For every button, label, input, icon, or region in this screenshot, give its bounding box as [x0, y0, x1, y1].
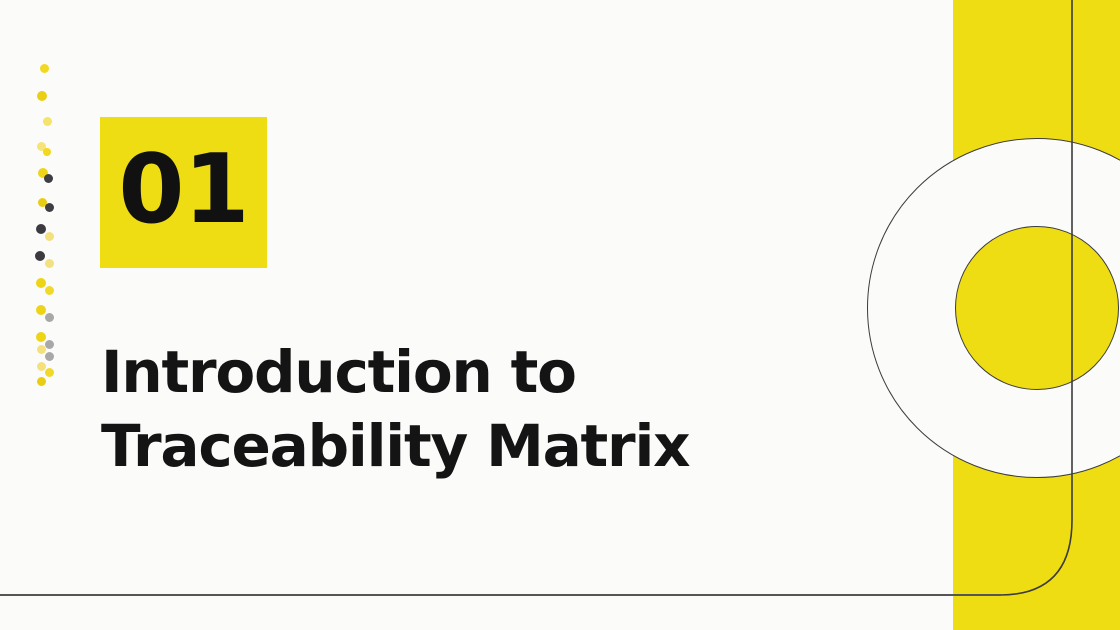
decorative-dot — [45, 352, 54, 361]
dot-pattern-decoration — [0, 0, 90, 630]
decorative-dot — [45, 203, 54, 212]
section-number-badge: 01 — [100, 117, 267, 268]
decorative-dot — [35, 251, 45, 261]
decorative-dot — [37, 362, 46, 371]
decorative-dot — [37, 91, 47, 101]
decorative-dot — [40, 64, 49, 73]
decorative-dot — [36, 278, 46, 288]
decorative-dot — [45, 313, 54, 322]
page-title-line-2: Traceability Matrix — [101, 409, 741, 483]
decorative-dot — [45, 368, 54, 377]
decorative-dot — [43, 148, 51, 156]
page-title: Introduction to Traceability Matrix — [101, 335, 741, 483]
decorative-dot — [45, 286, 54, 295]
decorative-dot — [36, 332, 46, 342]
decorative-dot — [45, 340, 54, 349]
page-title-line-1: Introduction to — [101, 335, 741, 409]
decorative-dot — [36, 224, 46, 234]
decorative-dot — [36, 305, 46, 315]
decorative-dot — [37, 345, 46, 354]
slide-canvas: 01 Introduction to Traceability Matrix — [0, 0, 1120, 630]
decorative-dot — [37, 377, 46, 386]
donut-ring-inner — [955, 226, 1119, 390]
decorative-dot — [45, 259, 54, 268]
decorative-dot — [43, 117, 52, 126]
section-number: 01 — [118, 143, 248, 238]
decorative-dot — [44, 174, 53, 183]
decorative-dot — [45, 232, 54, 241]
